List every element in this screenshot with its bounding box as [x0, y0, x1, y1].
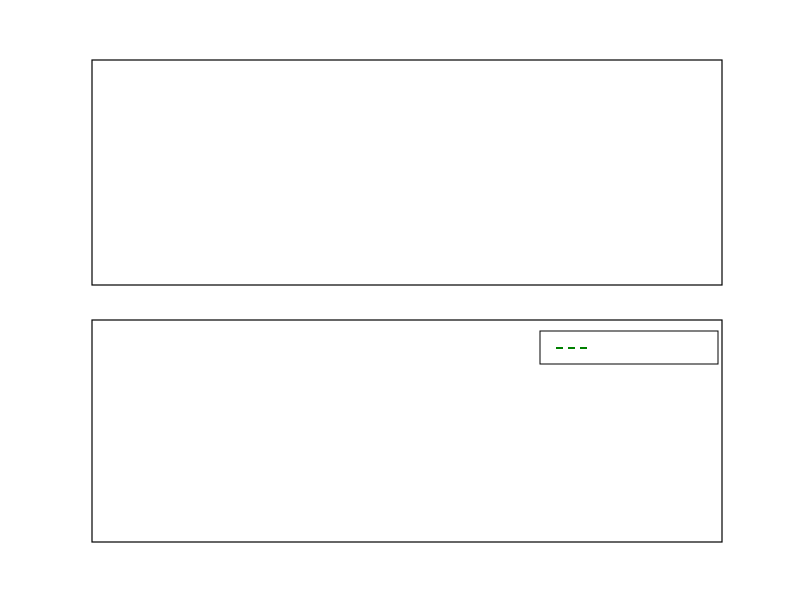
legend-frame — [540, 331, 718, 364]
figure-canvas — [0, 0, 800, 600]
legend[interactable] — [540, 331, 718, 364]
top-panel-differential-histogram — [92, 60, 722, 285]
top-axes-frame — [92, 60, 722, 285]
matplotlib-figure — [0, 0, 800, 600]
bottom-panel-cumulative — [0, 0, 722, 542]
